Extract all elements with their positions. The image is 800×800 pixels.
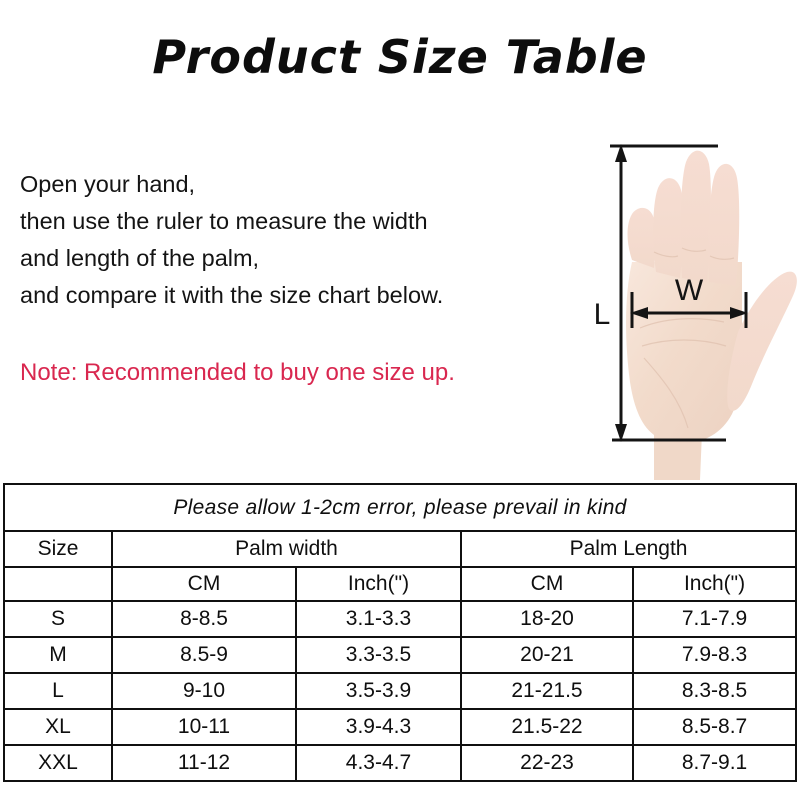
- cell-width-inch: 3.1-3.3: [296, 601, 461, 637]
- cell-size: S: [4, 601, 112, 637]
- cell-length-cm: 18-20: [461, 601, 633, 637]
- table-sub-header-row: CM Inch(") CM Inch("): [4, 567, 796, 601]
- instruction-line-2: then use the ruler to measure the width: [20, 203, 580, 240]
- header-palm-length: Palm Length: [461, 531, 796, 567]
- cell-width-cm: 11-12: [112, 745, 296, 781]
- cell-length-inch: 8.7-9.1: [633, 745, 796, 781]
- subheader-length-inch: Inch("): [633, 567, 796, 601]
- table-row: S 8-8.5 3.1-3.3 18-20 7.1-7.9: [4, 601, 796, 637]
- size-table-container: Please allow 1-2cm error, please prevail…: [3, 483, 795, 782]
- header-palm-width: Palm width: [112, 531, 461, 567]
- cell-length-cm: 21-21.5: [461, 673, 633, 709]
- length-label: L: [594, 298, 611, 331]
- cell-width-cm: 10-11: [112, 709, 296, 745]
- cell-length-inch: 8.3-8.5: [633, 673, 796, 709]
- cell-width-cm: 8-8.5: [112, 601, 296, 637]
- cell-width-inch: 4.3-4.7: [296, 745, 461, 781]
- cell-length-cm: 22-23: [461, 745, 633, 781]
- middle-finger: [680, 151, 711, 282]
- index-finger: [708, 164, 739, 286]
- cell-width-inch: 3.5-3.9: [296, 673, 461, 709]
- cell-length-inch: 8.5-8.7: [633, 709, 796, 745]
- instruction-line-4: and compare it with the size chart below…: [20, 277, 580, 314]
- cell-size: XL: [4, 709, 112, 745]
- instructions-block: Open your hand, then use the ruler to me…: [20, 166, 580, 314]
- ring-finger: [653, 178, 683, 278]
- pinky-finger: [628, 208, 656, 268]
- table-row: L 9-10 3.5-3.9 21-21.5 8.3-8.5: [4, 673, 796, 709]
- size-table: Please allow 1-2cm error, please prevail…: [3, 483, 797, 782]
- cell-width-cm: 8.5-9: [112, 637, 296, 673]
- hand-measurement-diagram: L W: [592, 132, 800, 480]
- page-title: Product Size Table: [0, 30, 800, 84]
- table-note-row: Please allow 1-2cm error, please prevail…: [4, 484, 796, 531]
- table-row: XL 10-11 3.9-4.3 21.5-22 8.5-8.7: [4, 709, 796, 745]
- cell-width-inch: 3.9-4.3: [296, 709, 461, 745]
- header-size: Size: [4, 531, 112, 567]
- table-row: M 8.5-9 3.3-3.5 20-21 7.9-8.3: [4, 637, 796, 673]
- purchase-note: Note: Recommended to buy one size up.: [20, 358, 455, 388]
- cell-length-cm: 21.5-22: [461, 709, 633, 745]
- subheader-size-blank: [4, 567, 112, 601]
- subheader-width-inch: Inch("): [296, 567, 461, 601]
- subheader-length-cm: CM: [461, 567, 633, 601]
- cell-width-inch: 3.3-3.5: [296, 637, 461, 673]
- cell-length-cm: 20-21: [461, 637, 633, 673]
- table-row: XXL 11-12 4.3-4.7 22-23 8.7-9.1: [4, 745, 796, 781]
- cell-length-inch: 7.9-8.3: [633, 637, 796, 673]
- table-group-header-row: Size Palm width Palm Length: [4, 531, 796, 567]
- subheader-width-cm: CM: [112, 567, 296, 601]
- cell-size: M: [4, 637, 112, 673]
- instruction-line-3: and length of the palm,: [20, 240, 580, 277]
- width-label: W: [675, 274, 704, 307]
- product-size-table-page: Product Size Table Open your hand, then …: [0, 0, 800, 800]
- instruction-line-1: Open your hand,: [20, 166, 580, 203]
- cell-width-cm: 9-10: [112, 673, 296, 709]
- cell-size: XXL: [4, 745, 112, 781]
- cell-size: L: [4, 673, 112, 709]
- cell-length-inch: 7.1-7.9: [633, 601, 796, 637]
- table-note-cell: Please allow 1-2cm error, please prevail…: [4, 484, 796, 531]
